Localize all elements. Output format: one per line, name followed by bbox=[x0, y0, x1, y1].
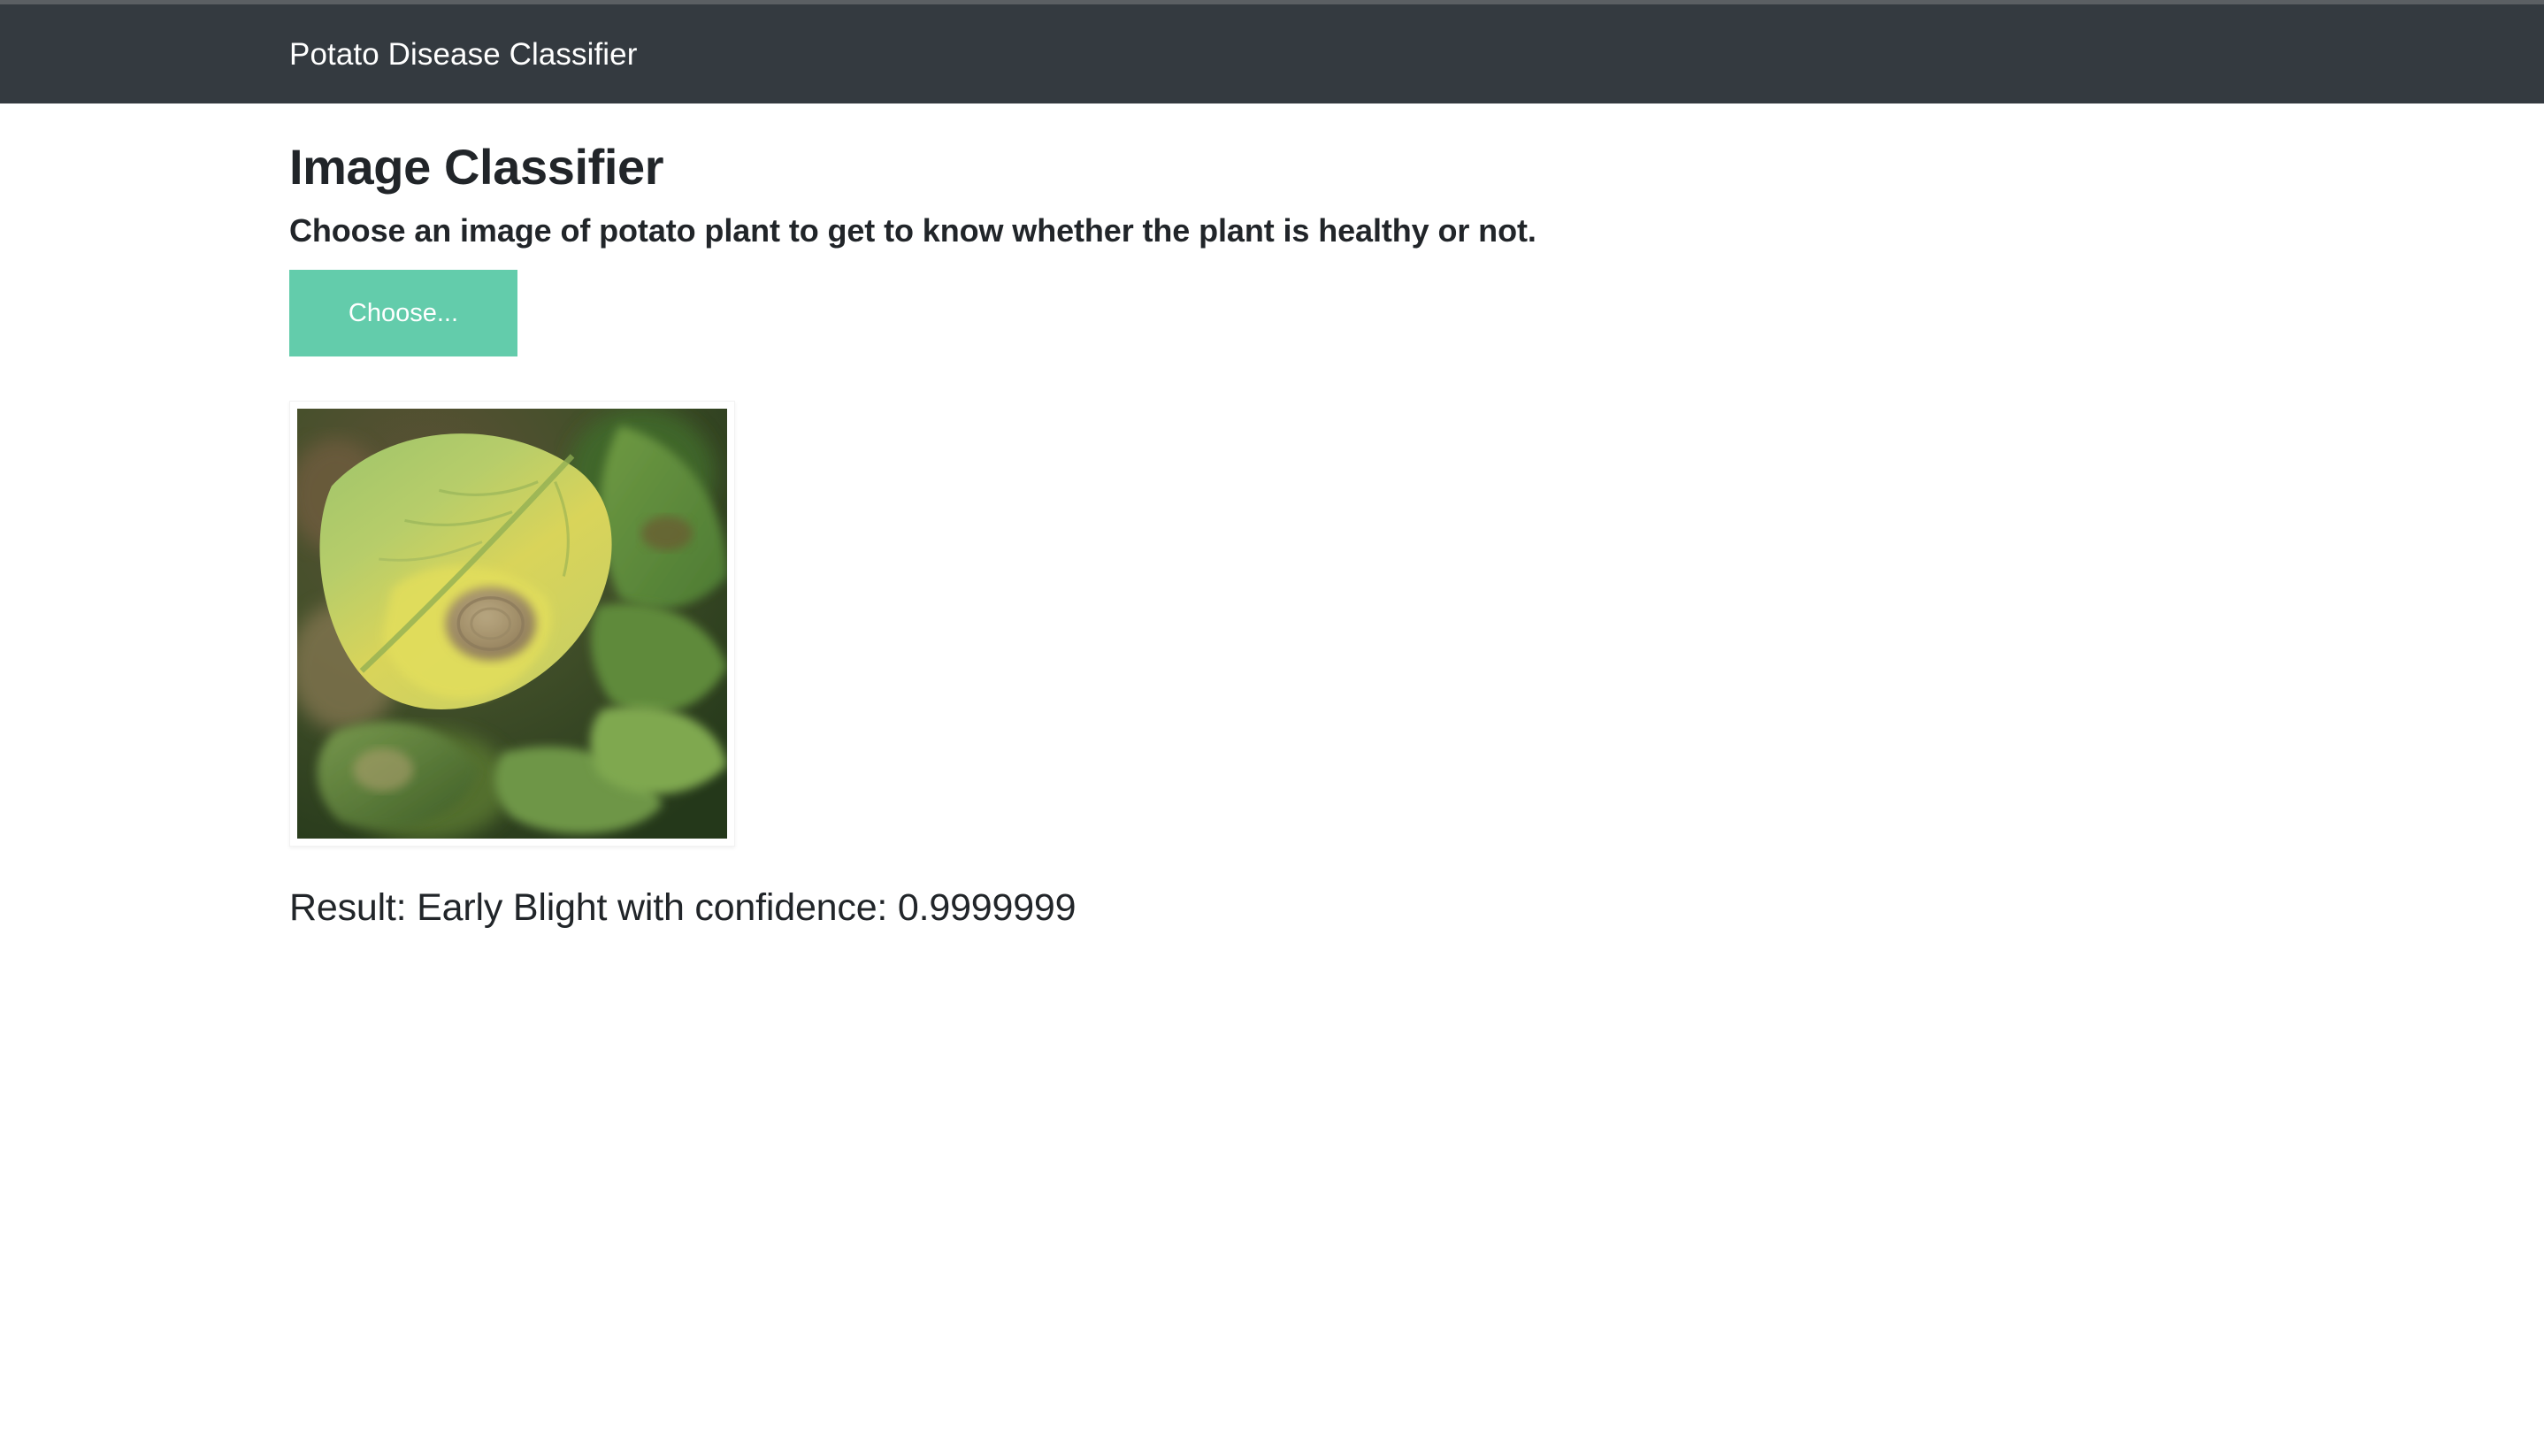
main-content: Image Classifier Choose an image of pota… bbox=[0, 103, 2544, 931]
page-title: Image Classifier bbox=[289, 139, 2544, 195]
app-page: Potato Disease Classifier Image Classifi… bbox=[0, 0, 2544, 1456]
page-subtitle: Choose an image of potato plant to get t… bbox=[289, 211, 2544, 249]
navbar: Potato Disease Classifier bbox=[0, 4, 2544, 103]
navbar-brand[interactable]: Potato Disease Classifier bbox=[289, 39, 638, 70]
choose-file-button[interactable]: Choose... bbox=[289, 270, 517, 356]
classification-result: Result: Early Blight with confidence: 0.… bbox=[289, 885, 2544, 931]
image-preview bbox=[297, 409, 727, 839]
image-preview-frame bbox=[289, 401, 735, 847]
